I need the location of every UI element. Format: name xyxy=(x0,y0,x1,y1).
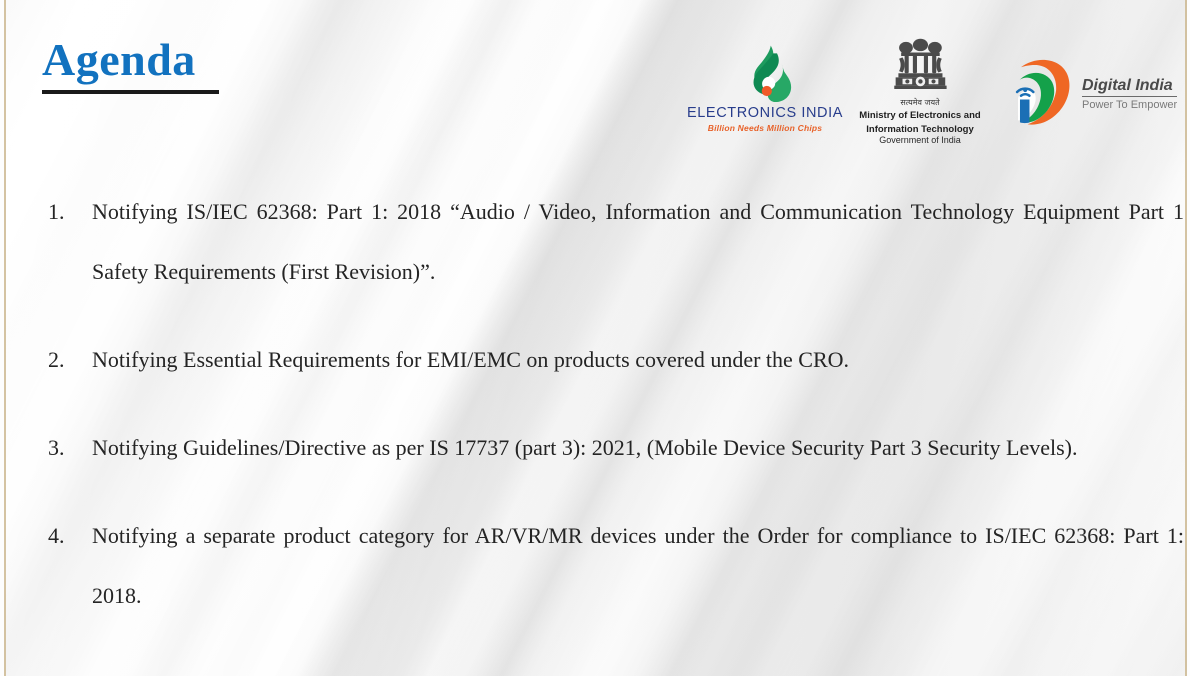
title-block: Agenda xyxy=(42,36,219,94)
digital-india-text-block: Digital India Power To Empower xyxy=(1082,71,1177,111)
agenda-item-2-text: Notifying Essential Requirements for EMI… xyxy=(92,330,1184,390)
agenda-list: 1. Notifying IS/IEC 62368: Part 1: 2018 … xyxy=(44,182,1184,654)
agenda-item-3-number: 3. xyxy=(44,418,92,478)
agenda-item-1-text: Notifying IS/IEC 62368: Part 1: 2018 “Au… xyxy=(92,182,1184,302)
right-border-accent xyxy=(1185,0,1187,676)
ashoka-emblem-icon xyxy=(886,36,955,98)
agenda-item-1: 1. Notifying IS/IEC 62368: Part 1: 2018 … xyxy=(44,182,1184,302)
meity-name-line2: Information Technology xyxy=(866,124,974,135)
meity-logo: सत्यमेव जयते Ministry of Electronics and… xyxy=(854,30,986,146)
meity-name-line3: Government of India xyxy=(879,135,961,146)
electronics-india-name: ELECTRONICS INDIA xyxy=(687,105,843,121)
meity-name-line1: Ministry of Electronics and xyxy=(859,110,980,121)
emblem-motto: सत्यमेव जयते xyxy=(900,99,939,107)
logo-bar: ELECTRONICS INDIA Billion Needs Million … xyxy=(690,30,1180,150)
digital-india-name: Digital India xyxy=(1082,77,1177,97)
title-underline-rule xyxy=(42,90,219,94)
agenda-item-2: 2. Notifying Essential Requirements for … xyxy=(44,330,1184,390)
agenda-item-4-number: 4. xyxy=(44,506,92,566)
digital-india-logo: Digital India Power To Empower xyxy=(1000,30,1180,130)
digital-india-swoosh-icon xyxy=(1000,52,1078,130)
left-border-accent xyxy=(4,0,6,676)
agenda-item-3: 3. Notifying Guidelines/Directive as per… xyxy=(44,418,1184,478)
agenda-item-4-text: Notifying a separate product category fo… xyxy=(92,506,1184,626)
agenda-item-3-text: Notifying Guidelines/Directive as per IS… xyxy=(92,418,1184,478)
presentation-slide: Agenda ELECTRONICS INDIA Billion Needs M… xyxy=(0,0,1190,676)
electronics-india-logo: ELECTRONICS INDIA Billion Needs Million … xyxy=(690,30,840,133)
agenda-item-1-number: 1. xyxy=(44,182,92,242)
page-title: Agenda xyxy=(42,36,219,84)
electronics-india-flame-icon xyxy=(730,44,801,102)
digital-india-tagline: Power To Empower xyxy=(1082,99,1177,111)
agenda-item-4: 4. Notifying a separate product category… xyxy=(44,506,1184,626)
agenda-item-2-number: 2. xyxy=(44,330,92,390)
electronics-india-tagline: Billion Needs Million Chips xyxy=(708,123,823,133)
